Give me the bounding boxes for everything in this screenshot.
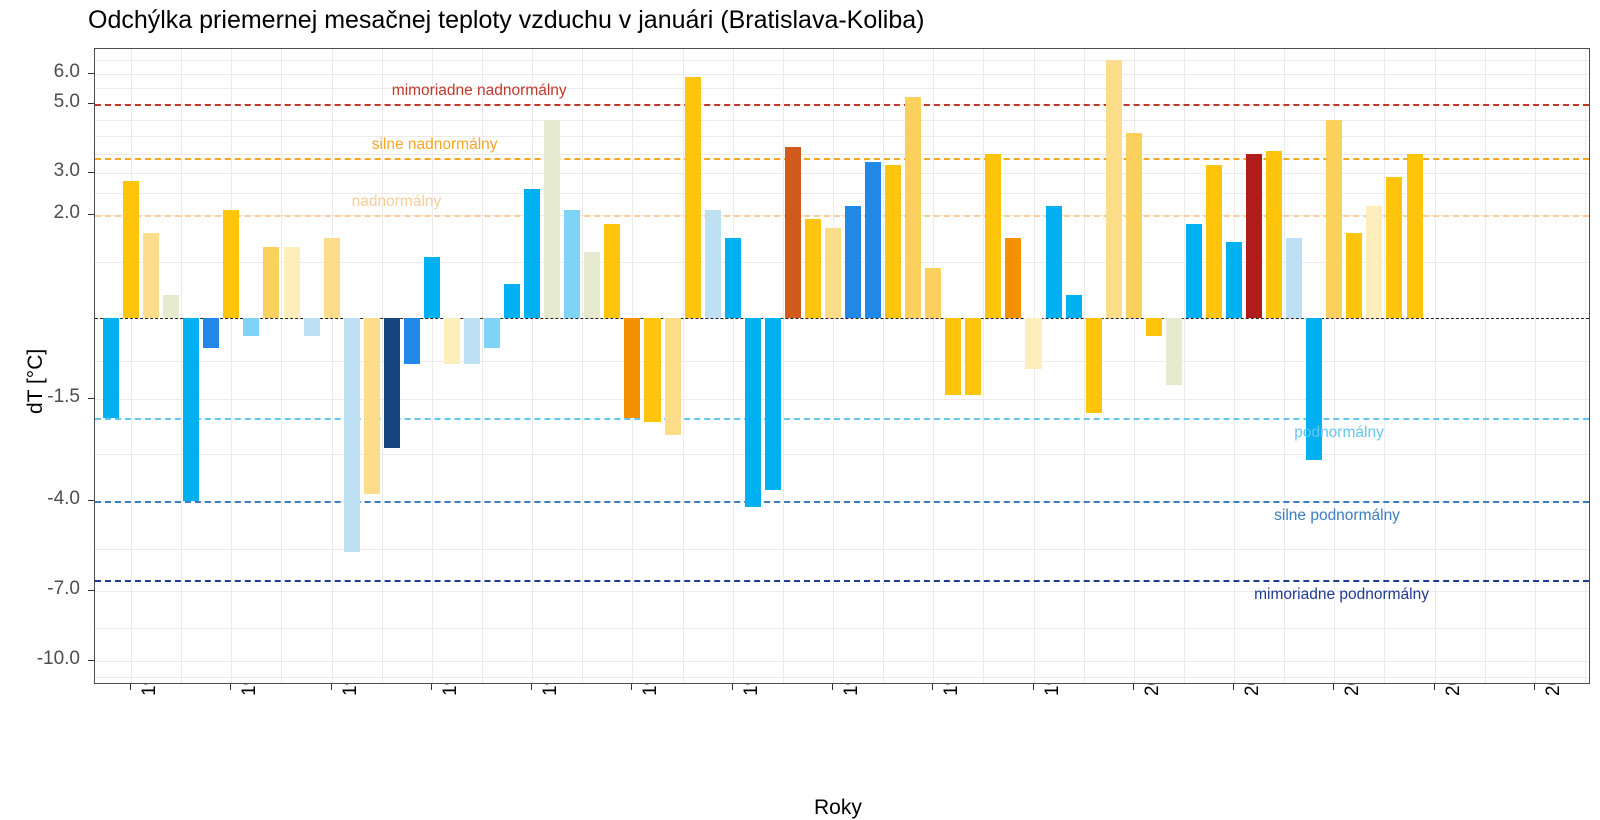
bar xyxy=(364,318,380,493)
y-axis-tick-label: 6.0 xyxy=(10,61,80,83)
grid-line-horizontal xyxy=(95,628,1589,629)
reference-line xyxy=(95,158,1589,160)
grid-line-horizontal xyxy=(95,677,1589,678)
bar xyxy=(1046,206,1062,319)
bar xyxy=(103,318,119,417)
bar xyxy=(665,318,681,435)
bar xyxy=(1386,177,1402,318)
bar xyxy=(644,318,660,422)
grid-line-vertical xyxy=(231,49,232,683)
bar xyxy=(123,181,139,318)
bar xyxy=(845,206,861,319)
bar xyxy=(344,318,360,551)
bar xyxy=(143,233,159,319)
bar xyxy=(263,247,279,318)
grid-line-horizontal xyxy=(95,120,1589,121)
bar xyxy=(564,210,580,318)
grid-line-vertical xyxy=(532,49,533,683)
bar xyxy=(765,318,781,489)
x-axis-tick-mark xyxy=(732,684,733,690)
bar xyxy=(1246,154,1262,318)
bar xyxy=(745,318,761,507)
x-axis-tick-mark xyxy=(1534,684,1535,690)
bar xyxy=(1066,295,1082,319)
grid-line-vertical xyxy=(683,49,684,683)
bar xyxy=(524,189,540,318)
x-axis-tick-mark xyxy=(1033,684,1034,690)
grid-line-vertical xyxy=(181,49,182,683)
grid-line-horizontal xyxy=(95,154,1589,155)
y-axis-tick-label: -4.0 xyxy=(10,488,80,510)
reference-line xyxy=(95,418,1589,420)
bar xyxy=(1266,151,1282,319)
bar xyxy=(444,318,460,364)
grid-line-horizontal xyxy=(95,193,1589,194)
grid-line-vertical xyxy=(783,49,784,683)
y-axis-tick-label: -1.5 xyxy=(10,386,80,408)
grid-line-horizontal xyxy=(95,361,1589,362)
chart-title: Odchýlka priemernej mesačnej teploty vzd… xyxy=(88,6,925,35)
grid-line-horizontal xyxy=(95,173,1589,174)
grid-line-vertical xyxy=(933,49,934,683)
bar xyxy=(604,224,620,319)
grid-line-vertical xyxy=(1084,49,1085,683)
bar xyxy=(1226,242,1242,318)
plot-panel: mimoriadne nadnormálnysilne nadnormálnyn… xyxy=(94,48,1590,684)
bar xyxy=(1126,133,1142,319)
bar xyxy=(163,295,179,319)
grid-line-vertical xyxy=(883,49,884,683)
grid-line-vertical xyxy=(582,49,583,683)
bar xyxy=(825,228,841,318)
grid-line-vertical xyxy=(983,49,984,683)
bar xyxy=(965,318,981,394)
grid-line-vertical xyxy=(1485,49,1486,683)
reference-line-label: podnormálny xyxy=(1294,424,1384,442)
bar xyxy=(584,252,600,318)
bar xyxy=(544,120,560,319)
x-axis-tick-mark xyxy=(1133,684,1134,690)
x-axis-tick-mark xyxy=(531,684,532,690)
bar xyxy=(484,318,500,347)
bar xyxy=(384,318,400,447)
bar xyxy=(1186,224,1202,319)
grid-line-horizontal xyxy=(95,60,1589,61)
bar xyxy=(1206,165,1222,318)
grid-line-vertical xyxy=(131,49,132,683)
y-axis-tick-label: 5.0 xyxy=(10,91,80,113)
bar xyxy=(905,97,921,318)
plot-clip: mimoriadne nadnormálnysilne nadnormálnyn… xyxy=(95,49,1589,683)
bar xyxy=(223,210,239,318)
reference-line xyxy=(95,580,1589,582)
reference-line-label: nadnormálny xyxy=(352,193,442,211)
grid-line-vertical xyxy=(332,49,333,683)
x-axis-tick-mark xyxy=(932,684,933,690)
bar xyxy=(1286,238,1302,319)
grid-line-vertical xyxy=(1585,49,1586,683)
bar xyxy=(705,210,721,318)
x-axis-tick-mark xyxy=(130,684,131,690)
y-axis-tick-label: 2.0 xyxy=(10,202,80,224)
x-axis-tick-mark xyxy=(1434,684,1435,690)
grid-line-vertical xyxy=(1535,49,1536,683)
bar xyxy=(885,165,901,318)
reference-line xyxy=(95,215,1589,217)
bar xyxy=(1086,318,1102,413)
bar xyxy=(183,318,199,500)
grid-line-vertical xyxy=(733,49,734,683)
bar xyxy=(1407,154,1423,318)
grid-line-vertical xyxy=(1435,49,1436,683)
bar xyxy=(1166,318,1182,384)
bar xyxy=(985,154,1001,318)
grid-line-horizontal xyxy=(95,88,1589,89)
x-axis-tick-mark xyxy=(1233,684,1234,690)
grid-line-horizontal xyxy=(95,136,1589,137)
bar xyxy=(203,318,219,347)
reference-line-label: silne podnormálny xyxy=(1274,507,1400,525)
x-axis-tick-mark xyxy=(1333,684,1334,690)
bar xyxy=(945,318,961,394)
grid-line-horizontal xyxy=(95,262,1589,263)
bar xyxy=(1005,238,1021,319)
reference-line-label: silne nadnormálny xyxy=(372,136,498,154)
bar xyxy=(725,238,741,319)
grid-line-horizontal xyxy=(95,74,1589,75)
bar xyxy=(1366,206,1382,319)
bar xyxy=(1106,60,1122,319)
bar xyxy=(1025,318,1041,369)
y-axis-tick-label: -10.0 xyxy=(10,648,80,670)
grid-line-vertical xyxy=(1184,49,1185,683)
grid-line-vertical xyxy=(281,49,282,683)
chart-root: Odchýlka priemernej mesačnej teploty vzd… xyxy=(0,0,1600,800)
bar xyxy=(805,219,821,318)
bar xyxy=(785,147,801,318)
grid-line-horizontal xyxy=(95,454,1589,455)
y-axis-tick-label: -7.0 xyxy=(10,578,80,600)
reference-line xyxy=(95,501,1589,503)
y-axis-tick-label: 3.0 xyxy=(10,160,80,182)
bar xyxy=(865,162,881,319)
x-axis-tick-mark xyxy=(230,684,231,690)
grid-line-horizontal xyxy=(95,399,1589,400)
bar xyxy=(925,268,941,319)
grid-line-horizontal xyxy=(95,661,1589,662)
grid-line-horizontal xyxy=(95,549,1589,550)
bar xyxy=(1346,233,1362,319)
x-axis-tick-mark xyxy=(431,684,432,690)
x-axis-tick-mark xyxy=(832,684,833,690)
bar xyxy=(424,257,440,318)
bar xyxy=(464,318,480,364)
bar xyxy=(1146,318,1162,336)
bar xyxy=(304,318,320,336)
reference-line-label: mimoriadne nadnormálny xyxy=(392,82,567,100)
bar xyxy=(624,318,640,417)
bar xyxy=(685,77,701,319)
reference-line xyxy=(95,104,1589,106)
bar xyxy=(284,247,300,318)
bar xyxy=(1326,120,1342,319)
x-axis-tick-mark xyxy=(331,684,332,690)
grid-line-vertical xyxy=(833,49,834,683)
bar xyxy=(504,284,520,319)
bar xyxy=(404,318,420,364)
bar xyxy=(243,318,259,336)
x-axis-tick-mark xyxy=(631,684,632,690)
reference-line-label: mimoriadne podnormálny xyxy=(1254,586,1429,604)
grid-line-vertical xyxy=(1234,49,1235,683)
bar xyxy=(324,238,340,319)
